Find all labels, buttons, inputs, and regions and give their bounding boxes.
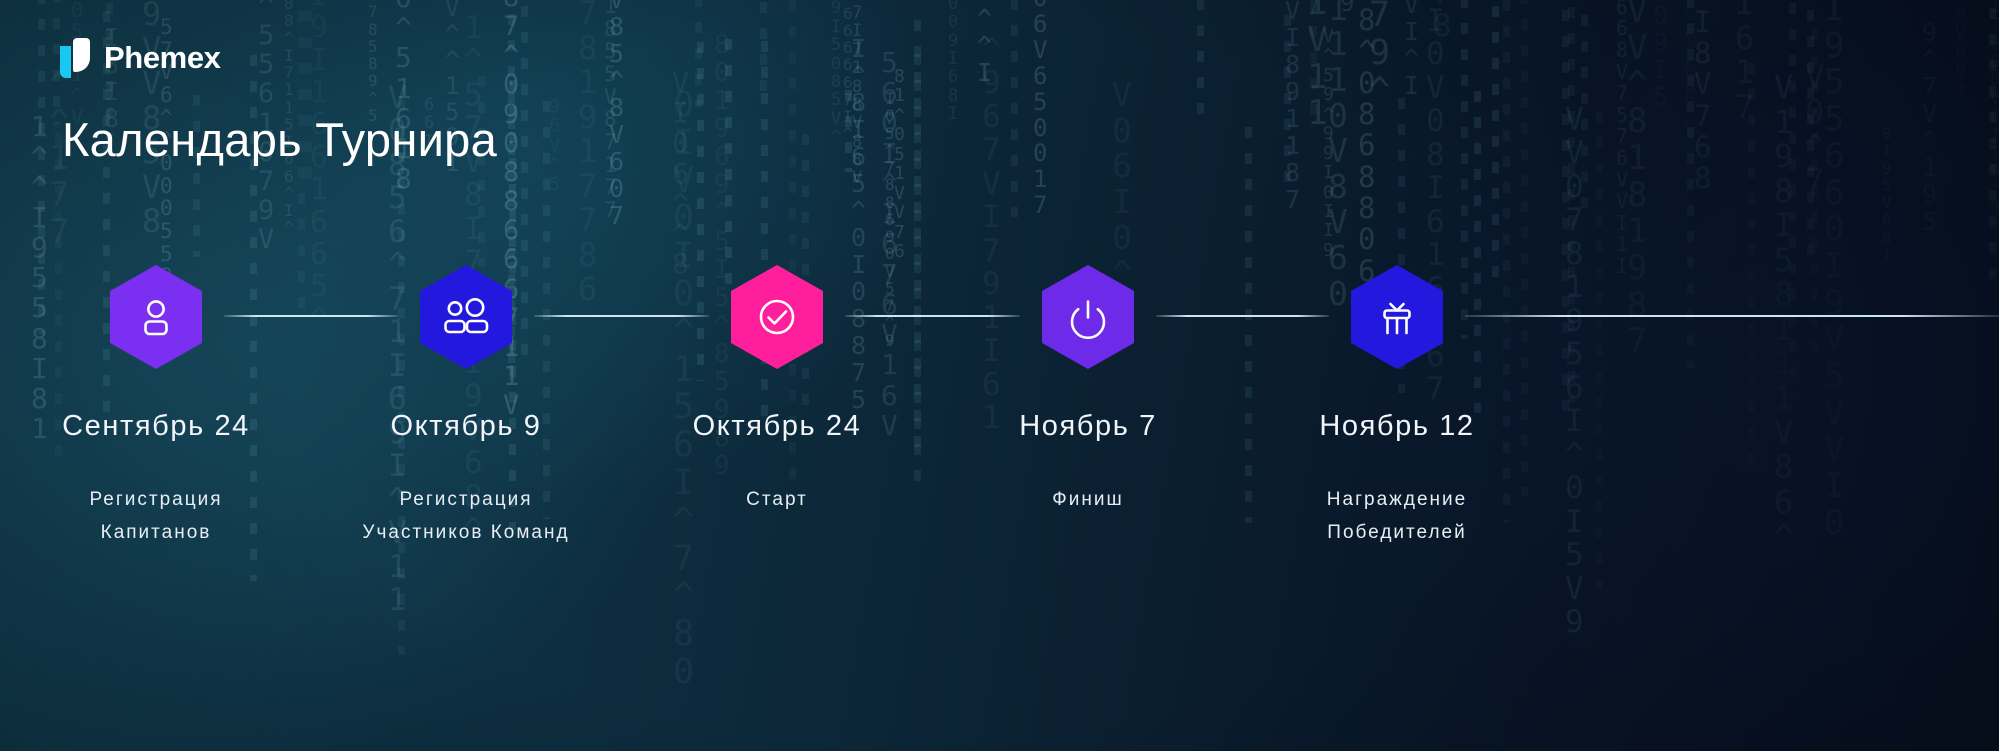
timeline-connector — [1465, 315, 1999, 317]
phemex-logo-mark-icon — [60, 38, 90, 78]
milestone-label-2: Октябрь 9РегистрацияУчастников Команд — [316, 410, 616, 550]
milestone-hexagon — [1351, 265, 1443, 369]
milestone-description-line1: Регистрация — [6, 483, 306, 516]
milestone-description: РегистрацияКапитанов — [6, 483, 306, 550]
brand-logo[interactable]: Phemex — [60, 38, 221, 78]
milestone-date: Ноябрь 12 — [1247, 410, 1547, 443]
milestone-description: РегистрацияУчастников Команд — [316, 483, 616, 550]
milestone-description: НаграждениеПобедителей — [1247, 483, 1547, 550]
milestone-label-1: Сентябрь 24РегистрацияКапитанов — [6, 410, 306, 550]
milestone-hexagon — [1042, 265, 1134, 369]
brand-name: Phemex — [104, 40, 221, 76]
milestone-date: Сентябрь 24 — [6, 410, 306, 443]
milestone-description-line1: Старт — [627, 483, 927, 516]
logo-shape-left — [60, 46, 71, 78]
timeline-milestone-4[interactable] — [988, 252, 1188, 382]
check-circle-icon — [753, 293, 801, 341]
milestone-date: Ноябрь 7 — [938, 410, 1238, 443]
milestone-hexagon — [110, 265, 202, 369]
power-icon — [1064, 293, 1112, 341]
timeline-milestone-5[interactable] — [1297, 252, 1497, 382]
page-title: Календарь Турнира — [62, 112, 497, 167]
milestone-label-3: Октябрь 24Старт — [627, 410, 927, 516]
milestone-description: Финиш — [938, 483, 1238, 516]
milestone-label-4: Ноябрь 7Финиш — [938, 410, 1238, 516]
milestone-description-line1: Финиш — [938, 483, 1238, 516]
milestone-description-line2: Победителей — [1247, 516, 1547, 549]
timeline-milestone-1[interactable] — [56, 252, 256, 382]
milestone-description-line1: Награждение — [1247, 483, 1547, 516]
milestone-hexagon — [420, 265, 512, 369]
users-group-icon — [440, 294, 492, 340]
milestone-date: Октябрь 24 — [627, 410, 927, 443]
logo-shape-right — [73, 38, 90, 72]
milestone-label-5: Ноябрь 12НаграждениеПобедителей — [1247, 410, 1547, 550]
user-icon — [133, 294, 179, 340]
milestone-description-line2: Капитанов — [6, 516, 306, 549]
milestone-description: Старт — [627, 483, 927, 516]
timeline-milestone-3[interactable] — [677, 252, 877, 382]
milestone-description-line2: Участников Команд — [316, 516, 616, 549]
timeline-track — [0, 252, 1999, 382]
milestone-description-line1: Регистрация — [316, 483, 616, 516]
tournament-calendar-banner: 5 7 1 1 V 1 1 7 9 ^ 6 V 1 I 1 7 I 9 5 5 … — [0, 0, 1999, 751]
timeline-milestone-2[interactable] — [366, 252, 566, 382]
milestone-date: Октябрь 9 — [316, 410, 616, 443]
gift-icon — [1373, 293, 1421, 341]
milestone-hexagon — [731, 265, 823, 369]
